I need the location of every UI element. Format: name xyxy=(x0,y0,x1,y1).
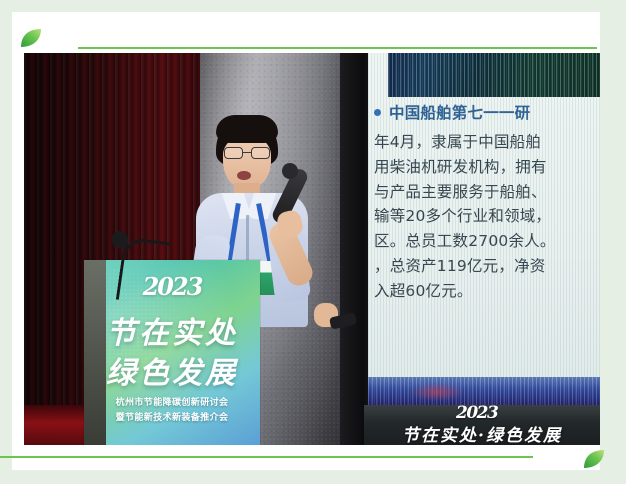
slide-line: 区。总员工数2700余人。 xyxy=(374,229,600,254)
conference-photo: 中国船舶第七一一研 年4月，隶属于中国船舶 用柴油机研发机构，拥有 与产品主要服… xyxy=(24,53,600,445)
projection-screen: 中国船舶第七一一研 年4月，隶属于中国船舶 用柴油机研发机构，拥有 与产品主要服… xyxy=(368,53,600,413)
glasses-lens-left xyxy=(224,147,243,159)
podium-subtitle-line-1: 杭州市节能降碳创新研讨会 xyxy=(84,395,260,408)
podium-banner: 2023 节在实处 绿色发展 杭州市节能降碳创新研讨会 暨节能新技术新装备推介会 xyxy=(84,260,260,445)
podium-title-line-1: 节在实处 xyxy=(84,308,260,352)
slide-line: 输等20多个行业和领域， xyxy=(374,204,600,229)
bullet-dot-icon xyxy=(374,109,381,116)
slide-line: 年4月，隶属于中国船舶 xyxy=(374,130,600,155)
slide-heading: 中国船舶第七一一研 xyxy=(389,101,530,123)
slide-text-block: 中国船舶第七一一研 年4月，隶属于中国船舶 用柴油机研发机构，拥有 与产品主要服… xyxy=(374,101,600,304)
podium-subtitle-line-2: 暨节能新技术新装备推介会 xyxy=(84,410,260,423)
glasses-icon xyxy=(224,147,270,159)
glasses-bridge xyxy=(243,152,251,153)
slide-bullet-row: 中国船舶第七一一研 xyxy=(374,101,600,123)
slide-bottom-image-highlight xyxy=(410,383,464,401)
bottom-divider-rule xyxy=(0,456,533,458)
content-card: 中国船舶第七一一研 年4月，隶属于中国船舶 用柴油机研发机构，拥有 与产品主要服… xyxy=(12,12,600,470)
slide-top-image xyxy=(388,53,600,97)
slide-line: 与产品主要服务于船舶、 xyxy=(374,180,600,205)
page-background: 中国船舶第七一一研 年4月，隶属于中国船舶 用柴油机研发机构，拥有 与产品主要服… xyxy=(0,0,626,484)
slide-line: 入超60亿元。 xyxy=(374,279,600,304)
slide-line: 用柴油机研发机构，拥有 xyxy=(374,155,600,180)
leaf-icon xyxy=(583,449,603,468)
leaf-icon xyxy=(20,28,40,47)
slide-line: ，总资产119亿元，净资 xyxy=(374,254,600,279)
glasses-lens-right xyxy=(251,147,270,159)
speaker-face xyxy=(223,135,271,189)
podium-title-line-2: 绿色发展 xyxy=(84,348,260,392)
speaker-mouth xyxy=(237,171,251,180)
stage-front-slogan: 节在实处·绿色发展 xyxy=(364,421,600,445)
speaker-hair-fringe xyxy=(216,115,278,143)
stage-front-panel: 2023 节在实处·绿色发展 xyxy=(364,405,600,445)
top-divider-rule xyxy=(78,47,597,49)
